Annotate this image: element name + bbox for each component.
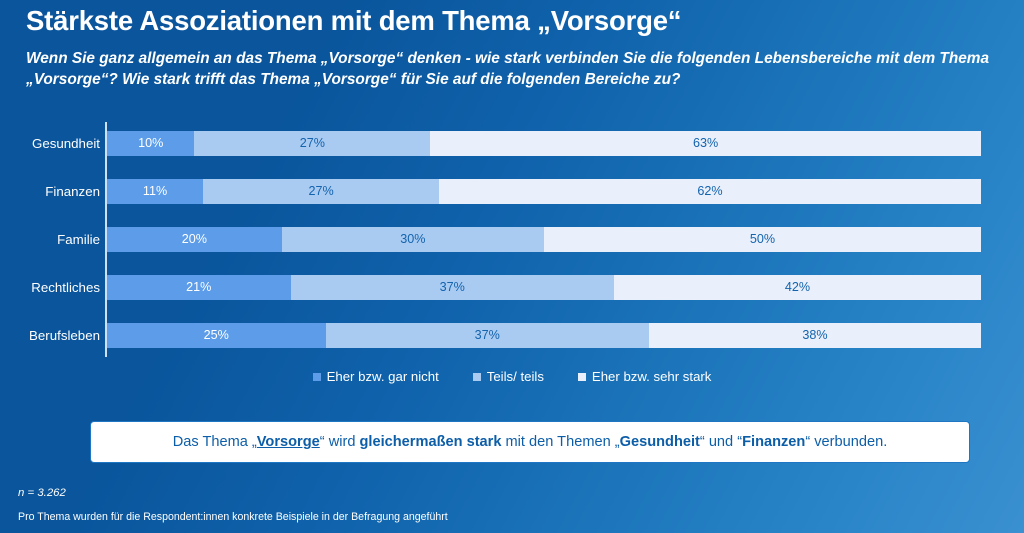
chart-bar-segment: 11%	[107, 179, 203, 204]
legend-swatch-icon	[578, 373, 586, 381]
callout-box: Das Thema „Vorsorge“ wird gleichermaßen …	[90, 421, 970, 463]
legend-item-label: Eher bzw. gar nicht	[327, 369, 439, 384]
chart-bar-track: 10%27%63%	[107, 131, 981, 156]
chart-bar-segment: 62%	[439, 179, 981, 204]
legend-item-label: Teils/ teils	[487, 369, 544, 384]
callout-text: Das Thema „Vorsorge“ wird gleichermaßen …	[173, 434, 888, 450]
chart-bar-segment: 42%	[614, 275, 981, 300]
footnote-note: Pro Thema wurden für die Respondent:inne…	[18, 511, 448, 523]
legend-item[interactable]: Teils/ teils	[473, 369, 544, 384]
chart-bar-segment: 21%	[107, 275, 291, 300]
chart-bar-row: Rechtliches21%37%42%	[0, 275, 1024, 300]
chart-bar-segment: 20%	[107, 227, 282, 252]
chart-bar-segment: 30%	[282, 227, 544, 252]
chart-bar-track: 20%30%50%	[107, 227, 981, 252]
chart-legend: Eher bzw. gar nichtTeils/ teilsEher bzw.…	[0, 369, 1024, 384]
chart-category-label: Berufsleben	[0, 323, 100, 348]
chart-category-label: Gesundheit	[0, 131, 100, 156]
chart-category-label: Finanzen	[0, 179, 100, 204]
chart-bar-track: 11%27%62%	[107, 179, 981, 204]
legend-swatch-icon	[473, 373, 481, 381]
chart-bar-row: Berufsleben25%37%38%	[0, 323, 1024, 348]
legend-item[interactable]: Eher bzw. sehr stark	[578, 369, 711, 384]
chart-bar-segment: 10%	[107, 131, 194, 156]
chart-category-label: Familie	[0, 227, 100, 252]
legend-swatch-icon	[313, 373, 321, 381]
stacked-bar-chart: Gesundheit10%27%63%Finanzen11%27%62%Fami…	[0, 118, 1024, 358]
page-title: Stärkste Assoziationen mit dem Thema „Vo…	[26, 4, 986, 38]
chart-bar-row: Finanzen11%27%62%	[0, 179, 1024, 204]
page-subtitle: Wenn Sie ganz allgemein an das Thema „Vo…	[26, 48, 1001, 90]
slide-canvas: Stärkste Assoziationen mit dem Thema „Vo…	[0, 0, 1024, 533]
chart-category-label: Rechtliches	[0, 275, 100, 300]
legend-item[interactable]: Eher bzw. gar nicht	[313, 369, 439, 384]
chart-bar-segment: 27%	[194, 131, 430, 156]
chart-bar-row: Gesundheit10%27%63%	[0, 131, 1024, 156]
chart-bar-segment: 38%	[649, 323, 981, 348]
chart-bar-segment: 37%	[326, 323, 649, 348]
chart-bar-track: 25%37%38%	[107, 323, 981, 348]
chart-bar-segment: 63%	[430, 131, 981, 156]
chart-bar-segment: 50%	[544, 227, 981, 252]
legend-item-label: Eher bzw. sehr stark	[592, 369, 711, 384]
footnote-sample-size: n = 3.262	[18, 487, 66, 499]
chart-bar-segment: 37%	[291, 275, 614, 300]
chart-bar-segment: 27%	[203, 179, 439, 204]
chart-bar-segment: 25%	[107, 323, 326, 348]
chart-bar-row: Familie20%30%50%	[0, 227, 1024, 252]
chart-bar-track: 21%37%42%	[107, 275, 981, 300]
